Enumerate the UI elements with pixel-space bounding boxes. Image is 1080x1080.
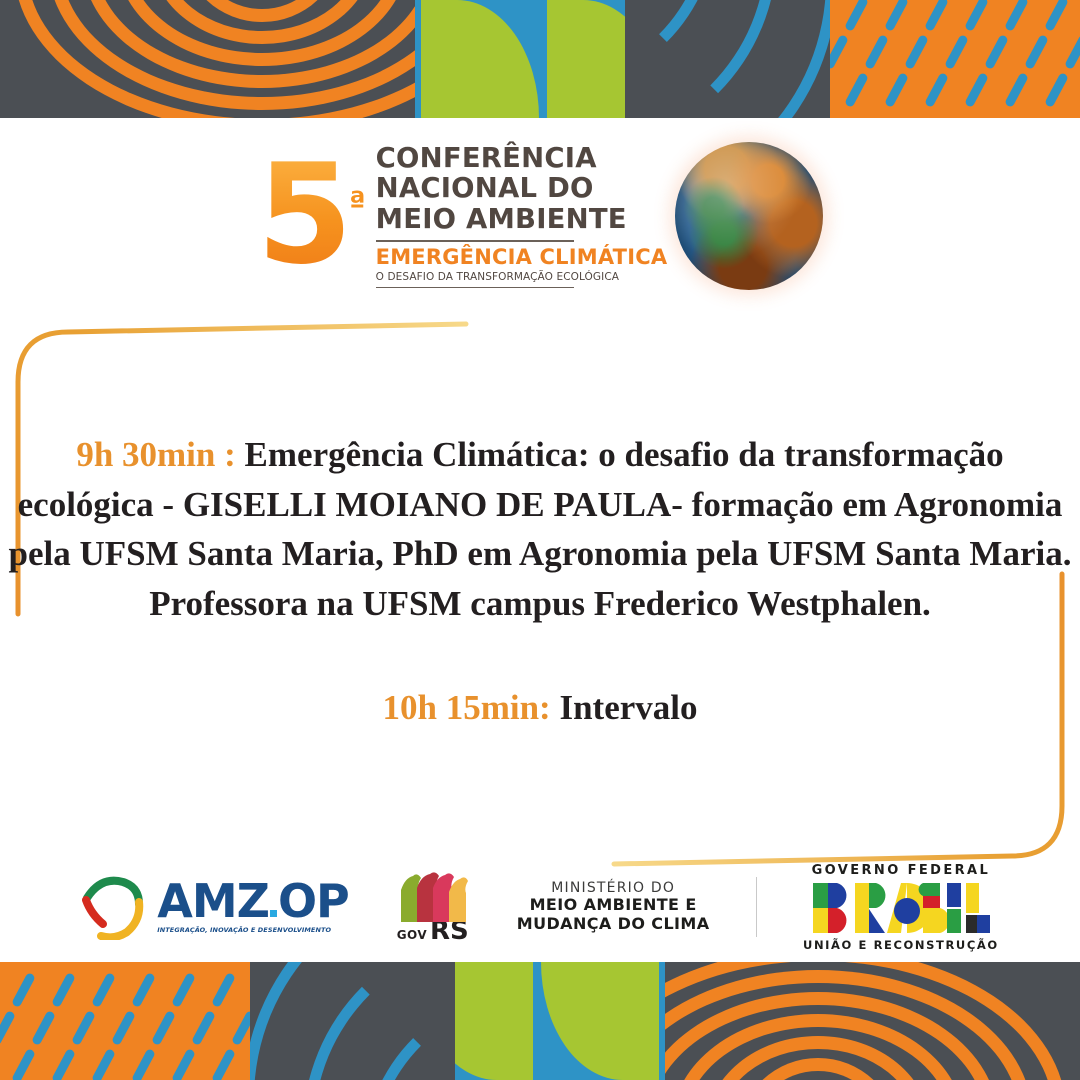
schedule-time-1: 9h 30min : (76, 435, 244, 474)
amzop-tagline: INTEGRAÇÃO, INOVAÇÃO E DESENVOLVIMENTO (157, 926, 331, 934)
conference-title-block: CONFERÊNCIA NACIONAL DO MEIO AMBIENTE EM… (376, 143, 668, 289)
banner-panel-orange-dashes (830, 0, 1080, 118)
orange-arcs-icon (665, 962, 1080, 1080)
sponsor-logo-row: AMZ OP INTEGRAÇÃO, INOVAÇÃO E DESENVOLVI… (0, 852, 1080, 962)
schedule-content: 9h 30min : Emergência Climática: o desaf… (0, 330, 1080, 732)
numeral-ordinal: ª (349, 186, 366, 221)
banner-panel-blue-arcs (625, 0, 830, 118)
amzop-wordmark: AMZ OP INTEGRAÇÃO, INOVAÇÃO E DESENVOLVI… (157, 880, 349, 935)
ministry-line-2: MEIO AMBIENTE E (530, 896, 697, 915)
amzop-dot-icon (270, 910, 277, 917)
earth-globe-icon (675, 142, 823, 290)
leaf-shape-icon (421, 0, 539, 118)
banner-panel-green-leaves (455, 962, 665, 1080)
ministry-line-1: MINISTÉRIO DO (551, 880, 675, 897)
brasil-top-text: GOVERNO FEDERAL (812, 863, 991, 878)
blue-arcs-icon (250, 962, 455, 1080)
title-line-2: NACIONAL DO (376, 173, 668, 204)
decorative-banner-bottom (0, 962, 1080, 1080)
decorative-banner-top (0, 0, 1080, 118)
numeral-five: 5 (257, 152, 347, 279)
leaf-shape-icon (547, 0, 625, 118)
gov-rs-gov-text: GOV (397, 928, 427, 942)
gov-rs-rs-text: RS (430, 920, 469, 943)
schedule-description-2: Intervalo (559, 688, 697, 727)
gov-rs-logo: GOV RS (395, 870, 471, 943)
schedule-item-1: 9h 30min : Emergência Climática: o desaf… (0, 430, 1080, 629)
schedule-item-2: 10h 15min: Intervalo (0, 683, 1080, 733)
brasil-bottom-text: UNIÃO E RECONSTRUÇÃO (803, 938, 999, 952)
amzop-letters-second: OP (278, 880, 349, 924)
ministry-logo: MINISTÉRIO DO MEIO AMBIENTE E MUDANÇA DO… (517, 880, 710, 934)
amzop-letters-first: AMZ (157, 880, 269, 924)
schedule-time-2: 10h 15min: (382, 688, 559, 727)
title-subtitle: EMERGÊNCIA CLIMÁTICA (376, 246, 668, 269)
title-divider-bottom (376, 287, 574, 289)
brasil-geometric-logo-icon (811, 881, 991, 935)
orange-arcs-icon (0, 0, 415, 118)
title-line-1: CONFERÊNCIA (376, 143, 668, 174)
amzop-logo: AMZ OP INTEGRAÇÃO, INOVAÇÃO E DESENVOLVI… (81, 871, 349, 943)
gov-rs-faces-icon (397, 870, 469, 922)
title-tagline: O DESAFIO DA TRANSFORMAÇÃO ECOLÓGICA (376, 271, 668, 283)
banner-panel-blue-arcs (250, 962, 455, 1080)
gov-rs-wordmark: GOV RS (397, 920, 469, 943)
logo-divider (756, 877, 758, 937)
blue-arcs-icon (625, 0, 830, 118)
conference-logo-lockup: 5 ª CONFERÊNCIA NACIONAL DO MEIO AMBIENT… (0, 128, 1080, 303)
leaf-shape-icon (541, 962, 659, 1080)
governo-federal-logo: GOVERNO FEDERAL (803, 863, 999, 952)
edition-numeral: 5 ª (257, 152, 366, 279)
banner-panel-green-leaves (415, 0, 625, 118)
poster-canvas: 5 ª CONFERÊNCIA NACIONAL DO MEIO AMBIENT… (0, 0, 1080, 1080)
title-divider (376, 240, 574, 242)
banner-panel-orange-arcs (0, 0, 415, 118)
title-line-3: MEIO AMBIENTE (376, 204, 668, 235)
ministry-line-3: MUDANÇA DO CLIMA (517, 915, 710, 934)
amzop-swoosh-icon (81, 874, 155, 940)
banner-panel-orange-arcs (665, 962, 1080, 1080)
leaf-shape-icon (455, 962, 533, 1080)
amzop-letters: AMZ OP (157, 880, 349, 924)
banner-panel-orange-dashes (0, 962, 250, 1080)
